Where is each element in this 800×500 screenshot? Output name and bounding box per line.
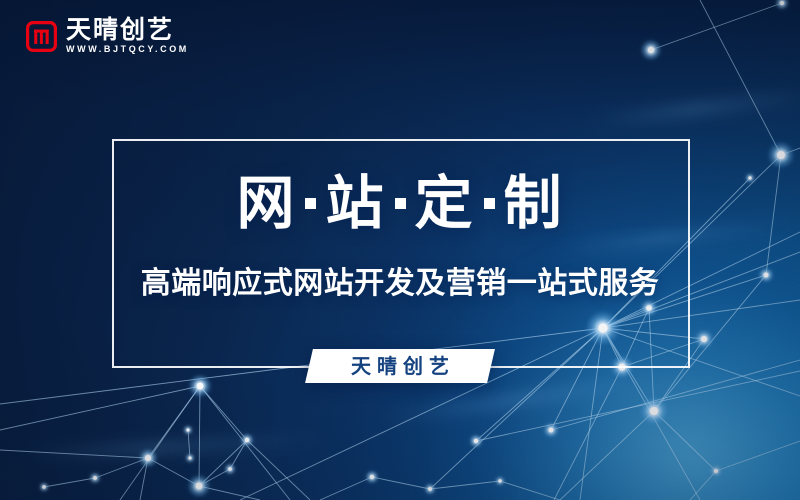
brand-badge-label: 天晴创艺 [309,349,491,383]
logo-company-name: 天晴创艺 [66,17,189,43]
headline-separator-dot [305,198,316,209]
headline-char-2: 站 [325,169,385,237]
brand-logo[interactable]: 天晴创艺 WWW.BJTQCY.COM [26,17,189,55]
headline-char-3: 定 [415,169,475,237]
page-title: 网站定制 [0,172,800,234]
promo-banner: 天晴创艺 WWW.BJTQCY.COM 网站定制 高端响应式网站开发及营销一站式… [0,0,800,500]
page-subtitle: 高端响应式网站开发及营销一站式服务 [0,266,800,302]
headline-separator-dot [484,198,495,209]
headline-char-4: 制 [504,169,564,237]
headline-separator-dot [395,198,406,209]
logo-website-url: WWW.BJTQCY.COM [66,44,189,55]
tianqing-square-mark-icon [26,21,57,52]
headline-char-1: 网 [236,169,296,237]
